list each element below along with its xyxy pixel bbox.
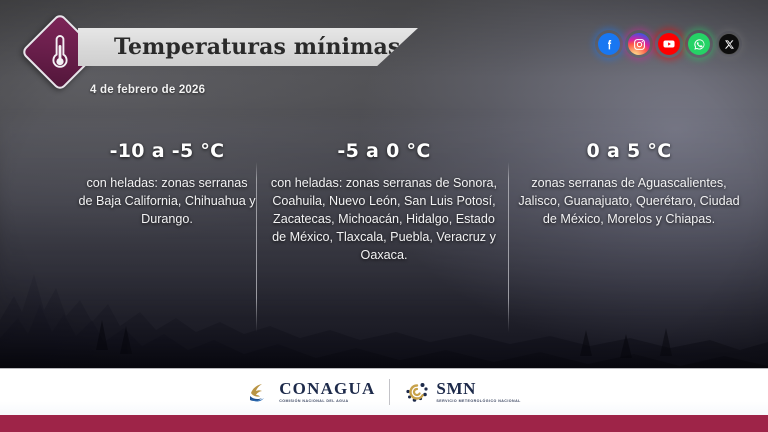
- facebook-icon[interactable]: [598, 33, 620, 55]
- smn-logo: SMN SERVICIO METEOROLÓGICO NACIONAL: [404, 379, 520, 405]
- temperature-range: -10 a -5 °C: [78, 140, 256, 162]
- temperature-column-2: -5 a 0 °C con heladas: zonas serranas de…: [268, 140, 500, 264]
- youtube-icon[interactable]: [658, 33, 680, 55]
- temperature-column-3: 0 a 5 °C zonas serranas de Aguascaliente…: [518, 140, 740, 229]
- temperature-description: zonas serranas de Aguascalientes, Jalisc…: [518, 175, 740, 229]
- smn-swirl-icon: [404, 379, 430, 405]
- infographic-canvas: Temperaturas mínimas 4 de febrero de 202…: [0, 0, 768, 432]
- temperature-columns: -10 a -5 °C con heladas: zonas serranas …: [0, 140, 768, 340]
- footer-accent-bar: [0, 415, 768, 432]
- conagua-name: CONAGUA: [279, 380, 375, 397]
- temperature-column-1: -10 a -5 °C con heladas: zonas serranas …: [78, 140, 256, 229]
- conagua-subtitle: COMISIÓN NACIONAL DEL AGUA: [279, 399, 375, 404]
- logo-separator: [389, 379, 390, 405]
- conagua-eagle-icon: [247, 379, 273, 405]
- header: Temperaturas mínimas 4 de febrero de 202…: [0, 0, 768, 110]
- temperature-description: con heladas: zonas serranas de Baja Cali…: [78, 175, 256, 229]
- title-banner: Temperaturas mínimas: [78, 28, 418, 66]
- date-label: 4 de febrero de 2026: [90, 84, 205, 96]
- page-title: Temperaturas mínimas: [114, 34, 400, 60]
- footer-logo-bar: CONAGUA COMISIÓN NACIONAL DEL AGUA: [0, 368, 768, 415]
- temperature-range: 0 a 5 °C: [518, 140, 740, 162]
- column-divider-1: [256, 162, 257, 332]
- whatsapp-icon[interactable]: [688, 33, 710, 55]
- x-twitter-icon[interactable]: [718, 33, 740, 55]
- temperature-range: -5 a 0 °C: [268, 140, 500, 162]
- smn-subtitle: SERVICIO METEOROLÓGICO NACIONAL: [436, 399, 520, 404]
- conagua-logo: CONAGUA COMISIÓN NACIONAL DEL AGUA: [247, 379, 375, 405]
- column-divider-2: [508, 162, 509, 332]
- social-links: [598, 33, 740, 55]
- temperature-description: con heladas: zonas serranas de Sonora, C…: [268, 175, 500, 264]
- agency-logos: CONAGUA COMISIÓN NACIONAL DEL AGUA: [247, 379, 521, 405]
- instagram-icon[interactable]: [628, 33, 650, 55]
- smn-name: SMN: [436, 380, 520, 397]
